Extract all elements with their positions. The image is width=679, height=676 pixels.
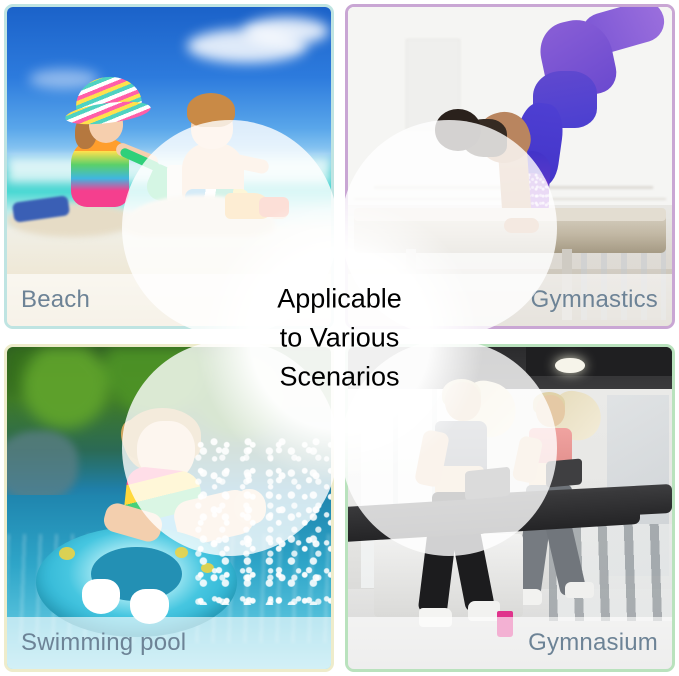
poolside-rock <box>7 431 78 502</box>
swim-ring-pattern <box>59 547 75 560</box>
panel-beach[interactable]: Beach <box>4 4 334 329</box>
swimming-pool-label-bar: Swimming pool <box>7 617 331 669</box>
swim-ring-pattern <box>175 547 188 558</box>
runner1-head <box>445 382 481 421</box>
gymnastics-photo: Gymnastics <box>348 7 672 326</box>
panel-label-swimming-pool: Swimming pool <box>21 631 186 655</box>
panel-label-gymnasium: Gymnasium <box>528 631 658 655</box>
runner2-head <box>536 395 565 427</box>
swimming-pool-photo: Swimming pool <box>7 347 331 669</box>
panel-gymnasium[interactable]: Gymnasium <box>345 344 675 672</box>
treadmill-console <box>465 467 510 501</box>
gym-ceiling-recess <box>526 347 672 376</box>
panel-gymnastics[interactable]: Gymnastics <box>345 4 675 329</box>
runner2-shoe <box>565 582 594 598</box>
cloud-icon <box>243 17 329 45</box>
water-splash <box>195 437 331 604</box>
toy-rake <box>259 197 289 217</box>
scenarios-collage: Beach <box>0 0 679 676</box>
panel-swimming-pool[interactable]: Swimming pool <box>4 344 334 672</box>
gymnasium-label-bar: Gymnasium <box>348 617 672 669</box>
gymnast-hands <box>504 218 540 234</box>
gymnastics-label-bar: Gymnastics <box>348 274 672 326</box>
treadmill-console <box>546 458 582 487</box>
panel-label-beach: Beach <box>21 288 90 312</box>
gymnasium-photo: Gymnasium <box>348 347 672 669</box>
beach-label-bar: Beach <box>7 274 331 326</box>
beach-photo: Beach <box>7 7 331 326</box>
panel-label-gymnastics: Gymnastics <box>531 288 658 312</box>
ceiling-light-icon <box>555 358 584 372</box>
gymnast-hair-bun <box>435 109 480 150</box>
boy-hair <box>187 93 235 127</box>
